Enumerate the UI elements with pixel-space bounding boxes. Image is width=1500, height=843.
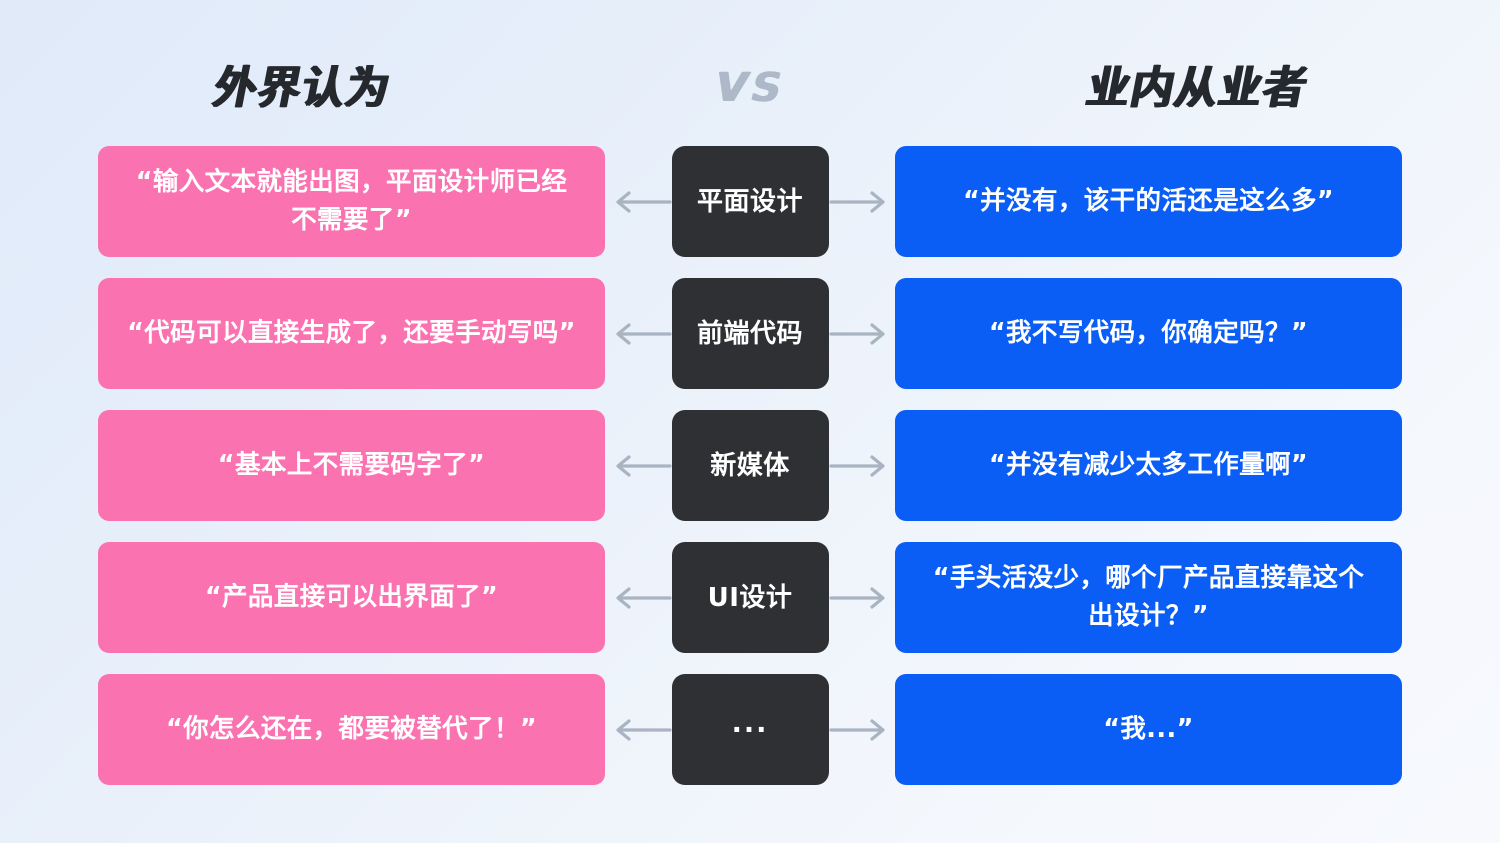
comparison-row: “产品直接可以出界面了”UI设计“手头活没少，哪个厂产品直接靠这个出设计？” — [0, 542, 1500, 653]
comparison-infographic: 外界认为 VS 业内从业者 “输入文本就能出图，平面设计师已经不需要了”平面设计… — [0, 0, 1500, 843]
topic-chip[interactable]: ... — [672, 674, 829, 785]
row-center-block: 前端代码 — [605, 278, 895, 389]
arrow-left-icon — [614, 321, 672, 347]
topic-chip-label: 新媒体 — [710, 453, 790, 479]
insider-quote-card[interactable]: “手头活没少，哪个厂产品直接靠这个出设计？” — [895, 542, 1402, 653]
outsider-quote-card[interactable]: “代码可以直接生成了，还要手动写吗” — [98, 278, 605, 389]
topic-chip[interactable]: UI设计 — [672, 542, 829, 653]
outsider-quote-card[interactable]: “输入文本就能出图，平面设计师已经不需要了” — [98, 146, 605, 257]
header: 外界认为 VS 业内从业者 — [0, 56, 1500, 120]
comparison-row: “输入文本就能出图，平面设计师已经不需要了”平面设计“并没有，该干的活还是这么多… — [0, 146, 1500, 257]
outsider-quote-card[interactable]: “产品直接可以出界面了” — [98, 542, 605, 653]
insider-quote-text: “并没有减少太多工作量啊” — [989, 447, 1308, 484]
outsider-quote-text: “基本上不需要码字了” — [218, 447, 485, 484]
comparison-rows: “输入文本就能出图，平面设计师已经不需要了”平面设计“并没有，该干的活还是这么多… — [0, 146, 1500, 785]
outsider-quote-card[interactable]: “你怎么还在，都要被替代了！” — [98, 674, 605, 785]
row-center-block: UI设计 — [605, 542, 895, 653]
topic-chip-label: 前端代码 — [697, 321, 803, 347]
outsider-quote-text: “输入文本就能出图，平面设计师已经不需要了” — [124, 164, 579, 238]
arrow-left-icon — [614, 585, 672, 611]
arrow-left-icon — [614, 189, 672, 215]
arrow-left-icon — [614, 717, 672, 743]
insider-quote-card[interactable]: “我...” — [895, 674, 1402, 785]
topic-chip[interactable]: 平面设计 — [672, 146, 829, 257]
topic-chip-label: UI设计 — [708, 585, 793, 611]
insider-quote-text: “手头活没少，哪个厂产品直接靠这个出设计？” — [921, 560, 1376, 634]
outsider-quote-card[interactable]: “基本上不需要码字了” — [98, 410, 605, 521]
header-right-column: 业内从业者 — [895, 67, 1500, 109]
outsider-quote-text: “代码可以直接生成了，还要手动写吗” — [127, 315, 576, 352]
arrow-left-icon — [614, 453, 672, 479]
arrow-right-icon — [829, 717, 887, 743]
outsider-quote-text: “你怎么还在，都要被替代了！” — [166, 711, 537, 748]
row-center-block: ... — [605, 674, 895, 785]
comparison-row: “基本上不需要码字了”新媒体“并没有减少太多工作量啊” — [0, 410, 1500, 521]
insider-quote-text: “我不写代码，你确定吗？” — [989, 315, 1308, 352]
row-center-block: 新媒体 — [605, 410, 895, 521]
comparison-row: “代码可以直接生成了，还要手动写吗”前端代码“我不写代码，你确定吗？” — [0, 278, 1500, 389]
arrow-right-icon — [829, 189, 887, 215]
versus-label: VS — [710, 68, 789, 108]
header-left-column: 外界认为 — [0, 67, 605, 109]
insider-quote-text: “并没有，该干的活还是这么多” — [963, 183, 1334, 220]
outsider-quote-text: “产品直接可以出界面了” — [205, 579, 498, 616]
topic-chip-label: ... — [732, 710, 769, 737]
topic-chip[interactable]: 前端代码 — [672, 278, 829, 389]
arrow-right-icon — [829, 321, 887, 347]
page-title-outsider: 外界认为 — [210, 66, 395, 111]
arrow-right-icon — [829, 585, 887, 611]
insider-quote-text: “我...” — [1103, 711, 1193, 748]
insider-quote-card[interactable]: “并没有，该干的活还是这么多” — [895, 146, 1402, 257]
row-center-block: 平面设计 — [605, 146, 895, 257]
topic-chip-label: 平面设计 — [697, 189, 803, 215]
topic-chip[interactable]: 新媒体 — [672, 410, 829, 521]
insider-quote-card[interactable]: “并没有减少太多工作量啊” — [895, 410, 1402, 521]
comparison-row: “你怎么还在，都要被替代了！”...“我...” — [0, 674, 1500, 785]
arrow-right-icon — [829, 453, 887, 479]
insider-quote-card[interactable]: “我不写代码，你确定吗？” — [895, 278, 1402, 389]
header-center-column: VS — [605, 68, 895, 108]
page-title-insider: 业内从业者 — [1083, 66, 1312, 111]
